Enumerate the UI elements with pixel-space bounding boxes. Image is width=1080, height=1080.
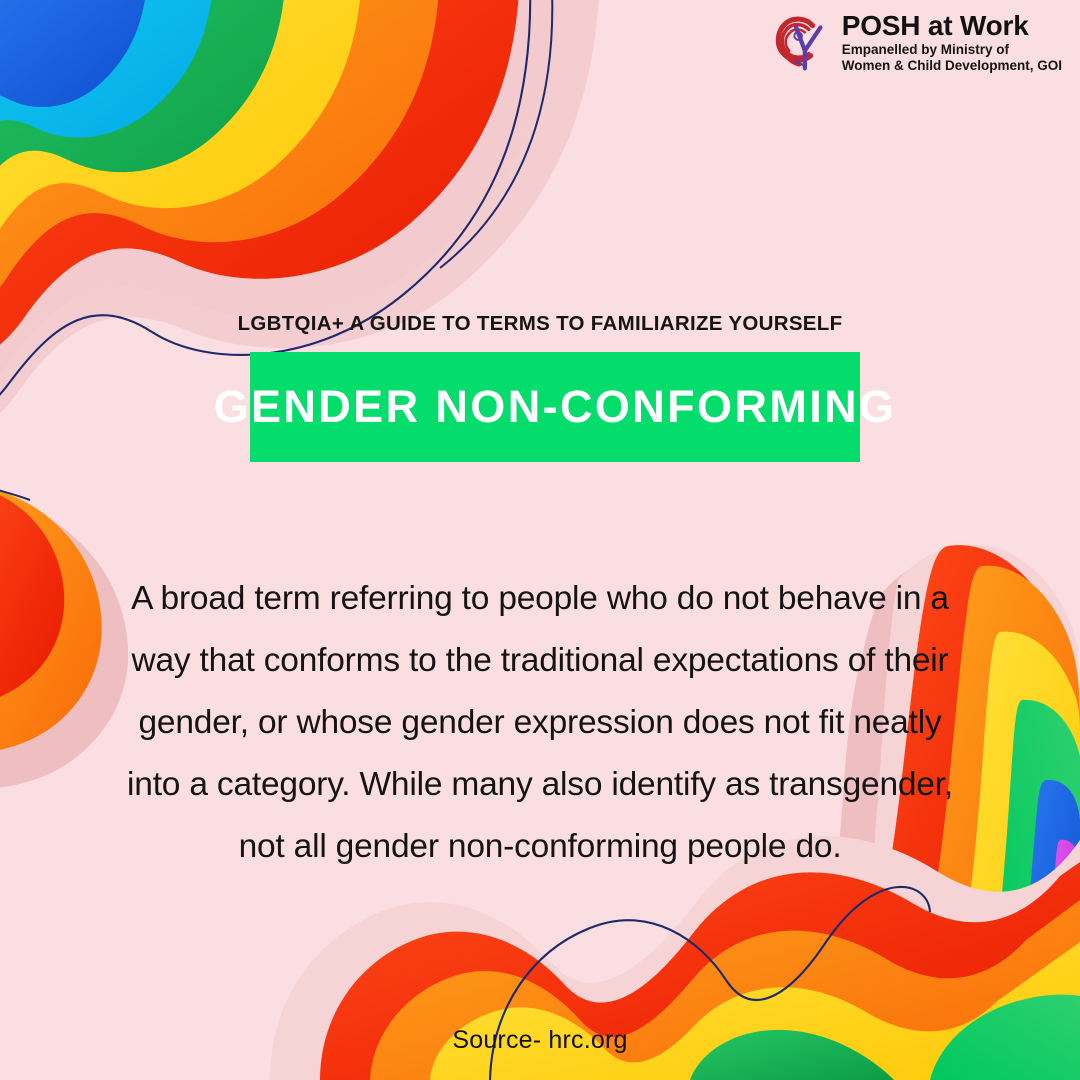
kicker-text: LGBTQIA+ A GUIDE TO TERMS TO FAMILIARIZE…: [0, 312, 1080, 336]
definition-line: way that conforms to the traditional exp…: [60, 630, 1020, 692]
definition-paragraph: A broad term referring to people who do …: [60, 568, 1020, 878]
title-banner: GENDER NON-CONFORMING: [250, 352, 860, 462]
top-left-band-blue: [0, 0, 148, 110]
top-left-band-green: [0, 0, 286, 216]
brand-subtitle-line-2: Women & Child Development, GOI: [842, 58, 1062, 74]
posh-spiral-y-logo-icon: [770, 12, 832, 74]
brand-subtitle: Empanelled by Ministry of Women & Child …: [842, 42, 1062, 74]
top-left-band-cyan: [0, 0, 214, 154]
brand-subtitle-line-1: Empanelled by Ministry of: [842, 42, 1062, 58]
page-title: GENDER NON-CONFORMING: [214, 381, 897, 433]
definition-line: A broad term referring to people who do …: [60, 568, 1020, 630]
top-left-pink-shadow: [0, 0, 560, 405]
center-navy-curve: [440, 0, 552, 268]
brand-text-block: POSH at Work Empanelled by Ministry of W…: [842, 12, 1062, 74]
top-left-band-yellow: [0, 0, 362, 270]
rainbow-decoration-artwork: [0, 0, 1080, 1080]
definition-line: gender, or whose gender expression does …: [60, 692, 1020, 754]
definition-line: not all gender non-conforming people do.: [60, 816, 1020, 878]
right-fan-band-blue: [1024, 780, 1080, 1006]
brand-logo-block: POSH at Work Empanelled by Ministry of W…: [770, 12, 1062, 74]
bottom-band-yellow: [430, 942, 1080, 1080]
left-navy-curve: [0, 480, 30, 500]
brand-name: POSH at Work: [842, 12, 1029, 40]
top-left-band-orange: [0, 0, 440, 318]
left-blob-red: [0, 484, 64, 706]
right-fan-band-magenta: [1045, 840, 1080, 1020]
poster-canvas: POSH at Work Empanelled by Ministry of W…: [0, 0, 1080, 1080]
source-credit: Source- hrc.org: [0, 1026, 1080, 1055]
definition-line: into a category. While many also identif…: [60, 754, 1020, 816]
